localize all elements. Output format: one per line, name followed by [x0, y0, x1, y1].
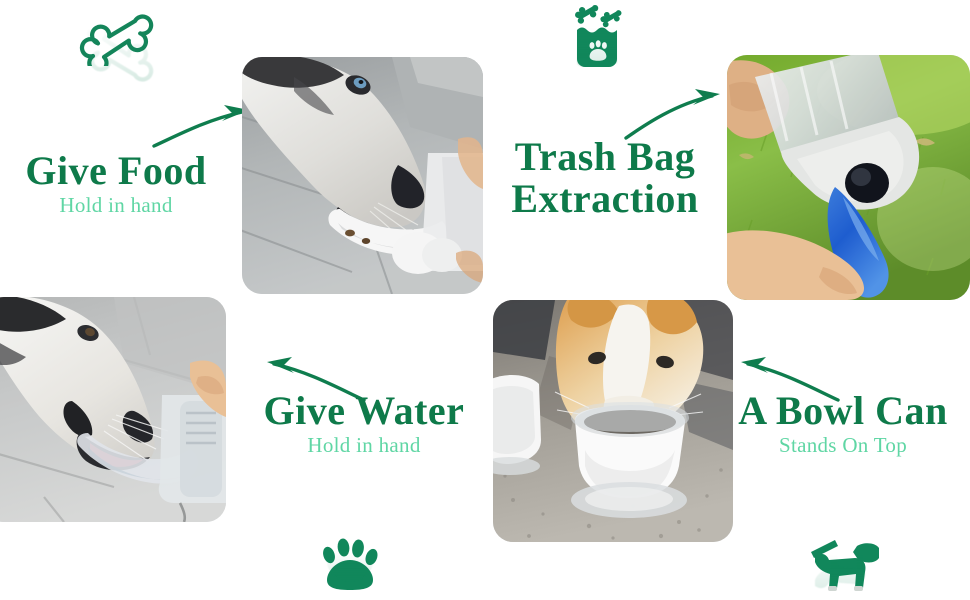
paw-print-icon-reflection — [318, 590, 382, 600]
caption-give-food: Give Food Hold in hand — [6, 150, 226, 217]
arrow-right-trash-bag — [622, 82, 734, 142]
caption-give-water: Give Water Hold in hand — [242, 390, 486, 457]
dog-silhouette-icon — [805, 536, 881, 594]
headline-trash-bag-extraction: Trash Bag Extraction — [492, 136, 718, 221]
headline-give-water: Give Water — [242, 390, 486, 432]
headline-give-food: Give Food — [6, 150, 226, 192]
photo-trash-bag-extraction — [727, 55, 970, 300]
subline-give-water: Hold in hand — [242, 434, 486, 457]
photo-give-food — [242, 57, 483, 294]
bone-icon — [74, 4, 164, 66]
photo-give-water — [0, 297, 226, 522]
infographic-canvas: Give Food Hold in hand Trash Bag Extract… — [0, 0, 970, 600]
trash-bag-icon-reflection — [568, 70, 630, 92]
caption-a-bowl-can: A Bowl Can Stands On Top — [722, 390, 964, 457]
paw-print-icon — [318, 538, 382, 590]
dog-silhouette-icon-reflection — [805, 594, 881, 600]
bone-icon-reflection — [74, 66, 164, 92]
subline-give-food: Hold in hand — [6, 194, 226, 217]
subline-a-bowl-can: Stands On Top — [722, 434, 964, 457]
caption-trash-bag-extraction: Trash Bag Extraction — [492, 136, 718, 221]
headline-a-bowl-can: A Bowl Can — [722, 390, 964, 432]
photo-a-bowl-can — [493, 300, 733, 542]
trash-bag-icon — [568, 2, 630, 70]
